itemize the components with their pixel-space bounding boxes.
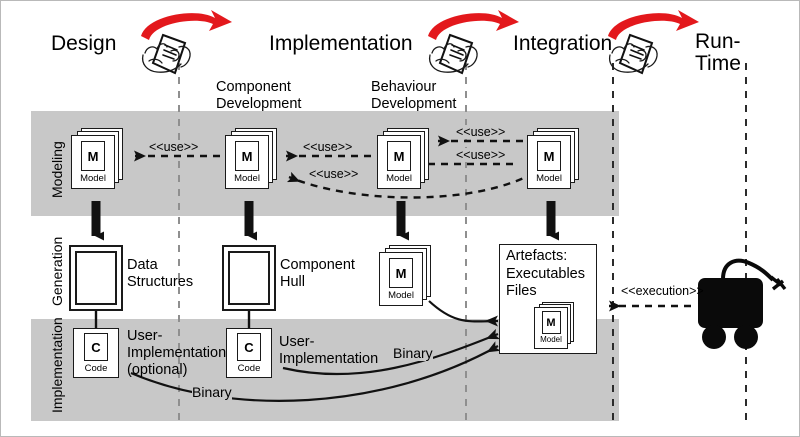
generation-label-data-structures: Data Structures bbox=[127, 257, 193, 291]
data-structures-line2: Structures bbox=[127, 274, 193, 291]
component-hull-line1: Component bbox=[280, 257, 355, 274]
data-structures-inner-rect bbox=[75, 251, 117, 305]
model-glyph-m: M bbox=[537, 141, 561, 171]
phase-label-runtime-line2: Time bbox=[695, 53, 741, 75]
model-icon-generated: M Model bbox=[379, 245, 433, 307]
use-label-behaviour-to-integration: <<use>> bbox=[456, 148, 505, 162]
code-caption: Code bbox=[74, 364, 118, 374]
generation-arrows bbox=[96, 201, 551, 236]
model-doc-front-sheet: M Model bbox=[225, 135, 269, 189]
code-glyph-c: C bbox=[84, 333, 108, 361]
user-impl-optional-line1: User- bbox=[127, 328, 226, 345]
code-icon-data-structures: C Code bbox=[73, 328, 121, 380]
user-impl-line1: User- bbox=[279, 334, 378, 351]
band-label-modeling: Modeling bbox=[49, 141, 65, 198]
artefacts-box: Artefacts: Executables Files M Model bbox=[499, 244, 597, 354]
user-impl-optional-line2: Implementation bbox=[127, 345, 226, 362]
band-label-implementation: Implementation bbox=[49, 317, 65, 413]
phase-label-runtime-line1: Run- bbox=[695, 31, 741, 53]
use-label-behaviour-to-component: <<use>> bbox=[303, 140, 352, 154]
activity-label-component-development: Component Development bbox=[216, 79, 301, 113]
binary-label-lower: Binary bbox=[192, 384, 232, 400]
data-structures-line1: Data bbox=[127, 257, 193, 274]
generation-label-component-hull: Component Hull bbox=[280, 257, 355, 291]
phase-transition-arrows bbox=[141, 10, 699, 40]
model-glyph-m: M bbox=[389, 258, 413, 288]
model-doc-front-sheet: M Model bbox=[534, 307, 568, 349]
activity-behaviour-development-line2: Development bbox=[371, 96, 456, 113]
use-label-integration-to-behaviour: <<use>> bbox=[456, 125, 505, 139]
phase-label-integration: Integration bbox=[513, 33, 612, 55]
user-impl-line2: Implementation bbox=[279, 351, 378, 368]
code-glyph-c: C bbox=[237, 333, 261, 361]
model-icon-behaviour: M Model bbox=[377, 128, 431, 190]
model-icon-artefact: M Model bbox=[534, 302, 576, 350]
activity-component-development-line2: Development bbox=[216, 96, 301, 113]
model-glyph-m: M bbox=[542, 311, 561, 334]
diagram-canvas: Design Implementation Integration Run- T… bbox=[0, 0, 800, 437]
model-doc-front-sheet: M Model bbox=[379, 252, 423, 306]
code-doc-front-sheet: C Code bbox=[73, 328, 119, 378]
model-doc-front-sheet: M Model bbox=[71, 135, 115, 189]
phase-label-runtime: Run- Time bbox=[695, 31, 741, 75]
phase-separator-lines-dark bbox=[613, 63, 746, 426]
activity-label-behaviour-development: Behaviour Development bbox=[371, 79, 456, 113]
use-label-integration-to-component-curve: <<use>> bbox=[309, 167, 358, 181]
model-caption: Model bbox=[535, 336, 567, 344]
model-doc-front-sheet: M Model bbox=[377, 135, 421, 189]
model-glyph-m: M bbox=[387, 141, 411, 171]
phase-label-implementation: Implementation bbox=[269, 33, 413, 55]
use-label-component-to-design: <<use>> bbox=[149, 140, 198, 154]
activity-component-development-line1: Component bbox=[216, 79, 301, 96]
execution-label: <<execution>> bbox=[621, 284, 704, 298]
binary-label-upper: Binary bbox=[393, 345, 433, 361]
user-implementation-label: User- Implementation bbox=[279, 334, 378, 368]
band-label-generation: Generation bbox=[49, 237, 65, 306]
artefacts-text: Artefacts: Executables Files bbox=[506, 248, 585, 301]
artefacts-line1: Artefacts: bbox=[506, 248, 585, 266]
user-impl-optional-line3: (optional) bbox=[127, 362, 226, 379]
model-caption: Model bbox=[72, 174, 114, 184]
model-caption: Model bbox=[528, 174, 570, 184]
model-doc-front-sheet: M Model bbox=[527, 135, 571, 189]
code-caption: Code bbox=[227, 364, 271, 374]
model-caption: Model bbox=[378, 174, 420, 184]
phase-label-design: Design bbox=[51, 33, 116, 55]
code-doc-front-sheet: C Code bbox=[226, 328, 272, 378]
model-icon-design: M Model bbox=[71, 128, 125, 190]
model-glyph-m: M bbox=[235, 141, 259, 171]
model-caption: Model bbox=[226, 174, 268, 184]
model-glyph-m: M bbox=[81, 141, 105, 171]
artefacts-line2: Executables bbox=[506, 266, 585, 284]
model-caption: Model bbox=[380, 291, 422, 301]
user-implementation-optional-label: User- Implementation (optional) bbox=[127, 328, 226, 379]
model-icon-integration: M Model bbox=[527, 128, 581, 190]
artefacts-line3: Files bbox=[506, 283, 585, 301]
code-icon-component-hull: C Code bbox=[226, 328, 274, 380]
activity-behaviour-development-line1: Behaviour bbox=[371, 79, 456, 96]
robot-icon-shape bbox=[698, 261, 785, 349]
component-hull-line2: Hull bbox=[280, 274, 355, 291]
model-icon-component: M Model bbox=[225, 128, 279, 190]
component-hull-inner-rect bbox=[228, 251, 270, 305]
